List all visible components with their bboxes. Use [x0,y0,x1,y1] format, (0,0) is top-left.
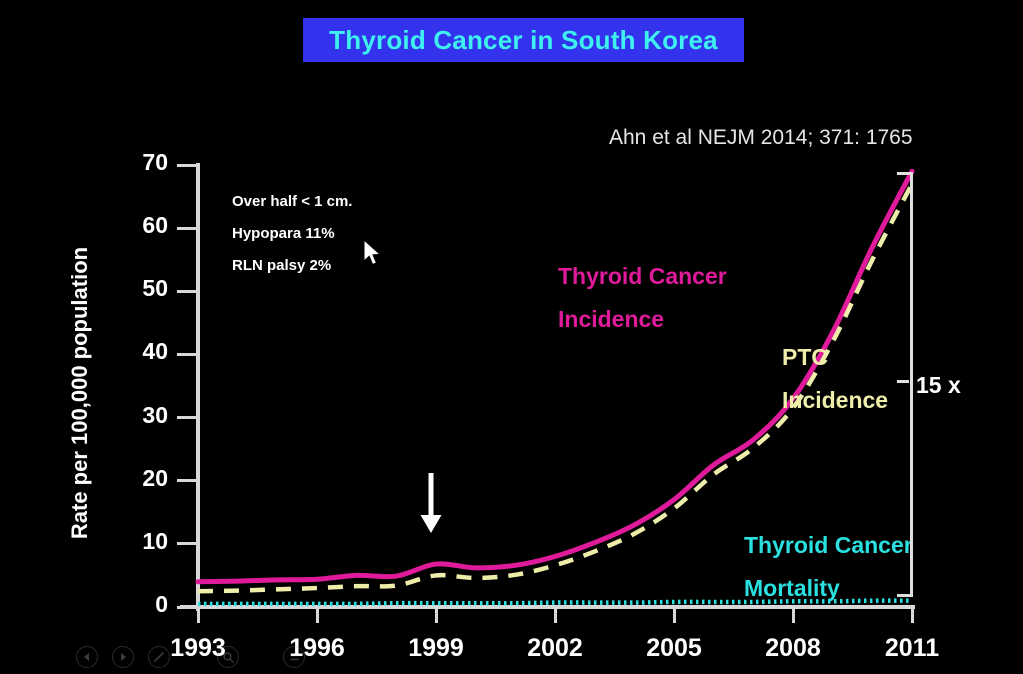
series-label-thyroid-cancer-incidence: Thyroid CancerIncidence [558,255,727,341]
series-label-line-1: Thyroid Cancer [558,255,727,298]
pen-slash-circle-icon [152,650,166,664]
slide-title-banner: Thyroid Cancer in South Korea [303,18,744,62]
series-label-line-2: Incidence [558,298,727,341]
x-axis-tick [792,609,795,623]
range-bracket [897,172,913,597]
x-axis-tick-label: 1999 [391,634,481,663]
y-axis-tick [177,542,197,545]
y-axis-tick [177,606,197,609]
range-bracket-tick [897,380,909,383]
next-slide-button[interactable] [112,646,134,668]
x-axis-tick-label: 2005 [629,634,719,663]
series-label-ptc-incidence: PTCIncidence [782,336,888,422]
series-label-line-2: Incidence [782,379,888,422]
x-axis-tick [197,609,200,623]
chevron-right-circle-icon [117,651,129,663]
y-axis-tick [177,164,197,167]
series-label-thyroid-cancer-mortality: Thyroid CancerMortality [744,524,913,610]
y-axis-tick-label: 50 [108,275,168,302]
y-axis-tick-label: 10 [108,528,168,555]
x-axis-tick-label: 2002 [510,634,600,663]
y-axis-tick [177,290,197,293]
x-axis-tick [435,609,438,623]
x-axis-tick-label: 2011 [867,634,957,663]
x-axis-tick-label: 2008 [748,634,838,663]
x-axis-tick [911,609,914,623]
series-label-line-1: PTC [782,336,888,379]
citation-text: Ahn et al NEJM 2014; 371: 1765 [609,126,913,150]
magnifier-circle-icon [222,651,235,664]
range-bracket-label: 15 x [916,372,961,399]
pen-tool-button[interactable] [148,646,170,668]
y-axis-tick-label: 60 [108,212,168,239]
x-axis-tick [554,609,557,623]
x-axis-tick [673,609,676,623]
page-title: Thyroid Cancer in South Korea [329,25,718,56]
y-axis-tick [177,416,197,419]
y-axis-tick-label: 30 [108,402,168,429]
series-label-line-1: Thyroid Cancer [744,524,913,567]
more-options-button[interactable] [283,646,305,668]
y-axis-tick-label: 70 [108,149,168,176]
series-label-line-2: Mortality [744,567,913,610]
slide-canvas: Thyroid Cancer in South Korea Ahn et al … [0,0,1023,674]
y-axis-tick-label: 0 [108,591,168,618]
y-axis-tick [177,479,197,482]
y-axis-tick-label: 20 [108,465,168,492]
presenter-toolbar[interactable] [76,646,170,668]
y-axis-tick [177,353,197,356]
zoom-button[interactable] [217,646,239,668]
y-axis-title: Rate per 100,000 population [67,213,93,573]
presenter-toolbar-secondary[interactable] [217,646,305,668]
y-axis-tick-label: 40 [108,338,168,365]
chevron-left-circle-icon [81,651,93,663]
y-axis-tick [177,227,197,230]
menu-circle-icon [288,651,301,664]
x-axis-tick [316,609,319,623]
previous-slide-button[interactable] [76,646,98,668]
